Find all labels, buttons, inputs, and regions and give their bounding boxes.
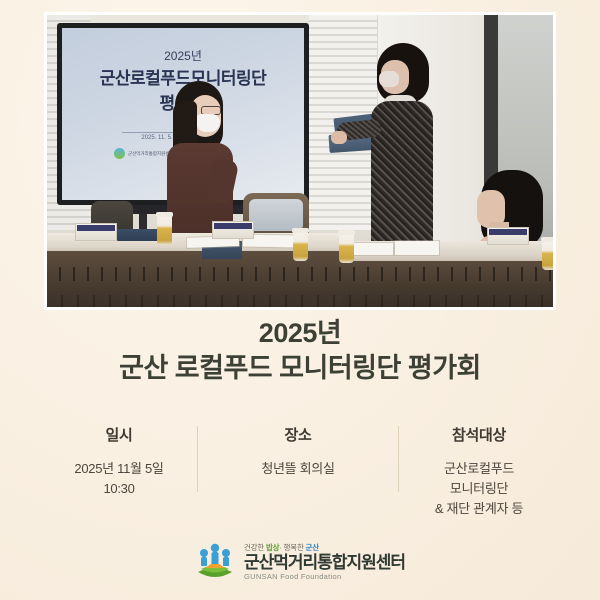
tagline-highlight-green: 밥상 [266,543,279,552]
slide-year: 2025년 [62,47,304,64]
info-line: 모니터링단 [405,479,553,499]
name-plate-bar [489,229,527,235]
table-panel-slots-lower [47,295,553,307]
person-presenter-left [165,81,237,241]
coffee-cup [293,231,308,261]
name-plate [75,223,117,241]
tagline-part-2: · 행복한 [279,543,305,552]
poster-title: 2025년 군산 로컬푸드 모니터링단 평가회 [0,316,600,386]
cup-lid [338,230,355,235]
info-body: 청년뜰 회의실 [204,459,392,479]
name-plate-bar [214,223,252,229]
info-column-attendees: 참석대상 군산로컬푸드 모니터링단 & 재단 관계자 등 [399,424,559,519]
poster-canvas: 2025년 군산로컬푸드모니터링단 평가회 2025. 11. 5. 군산먹거리… [0,0,600,600]
title-line-2: 군산 로컬푸드 모니터링단 평가회 [0,350,600,386]
meeting-photo: 2025년 군산로컬푸드모니터링단 평가회 2025. 11. 5. 군산먹거리… [47,15,553,307]
person-presenter-right [365,43,443,248]
hand [331,131,347,144]
face-mask [196,114,220,132]
foundation-name-en: GUNSAN Food Foundation [244,573,405,581]
face-mask [379,71,399,87]
coffee-cup [157,215,172,245]
coffee-cup [339,233,354,263]
tagline-highlight-blue: 군산 [306,543,319,552]
info-body: 군산로컬푸드 모니터링단 & 재단 관계자 등 [405,459,553,519]
info-line: 10:30 [47,479,191,499]
cup-lid [156,212,173,217]
info-heading: 참석대상 [405,424,553,445]
footer-logo: 건강한 밥상· 행복한 군산 군산먹거리통합지원센터 GUNSAN Food F… [0,542,600,582]
name-plate-bar [77,225,115,231]
chair-back [249,199,303,231]
info-heading: 일시 [47,424,191,445]
info-line: & 재단 관계자 등 [405,499,553,519]
tagline-part-1: 건강한 [244,543,266,552]
info-line: 2025년 11월 5일 [47,459,191,479]
cup-lid [292,228,309,233]
info-line: 군산로컬푸드 [405,459,553,479]
info-line: 청년뜰 회의실 [204,459,392,479]
logo-tagline: 건강한 밥상· 행복한 군산 [244,544,405,552]
title-line-1: 2025년 [0,316,600,350]
coffee-cup [542,240,553,270]
body [371,101,433,249]
foundation-logo-text: 건강한 밥상· 행복한 군산 군산먹거리통합지원센터 GUNSAN Food F… [244,544,405,581]
table-panel-slots [47,267,553,281]
info-body: 2025년 11월 5일 10:30 [47,459,191,499]
info-heading: 장소 [204,424,392,445]
info-column-venue: 장소 청년뜰 회의실 [198,424,398,479]
foundation-name: 군산먹거리통합지원센터 [244,554,405,571]
info-column-datetime: 일시 2025년 11월 5일 10:30 [41,424,197,499]
slide-logo-icon [114,148,125,159]
name-plate [212,221,254,239]
cup-lid [541,237,553,242]
paper-sheet [395,241,439,255]
foundation-logo-icon [195,542,235,582]
meeting-photo-frame: 2025년 군산로컬푸드모니터링단 평가회 2025. 11. 5. 군산먹거리… [44,12,556,310]
name-plate [487,227,529,245]
event-info: 일시 2025년 11월 5일 10:30 장소 청년뜰 회의실 참석대상 군산… [40,424,560,519]
